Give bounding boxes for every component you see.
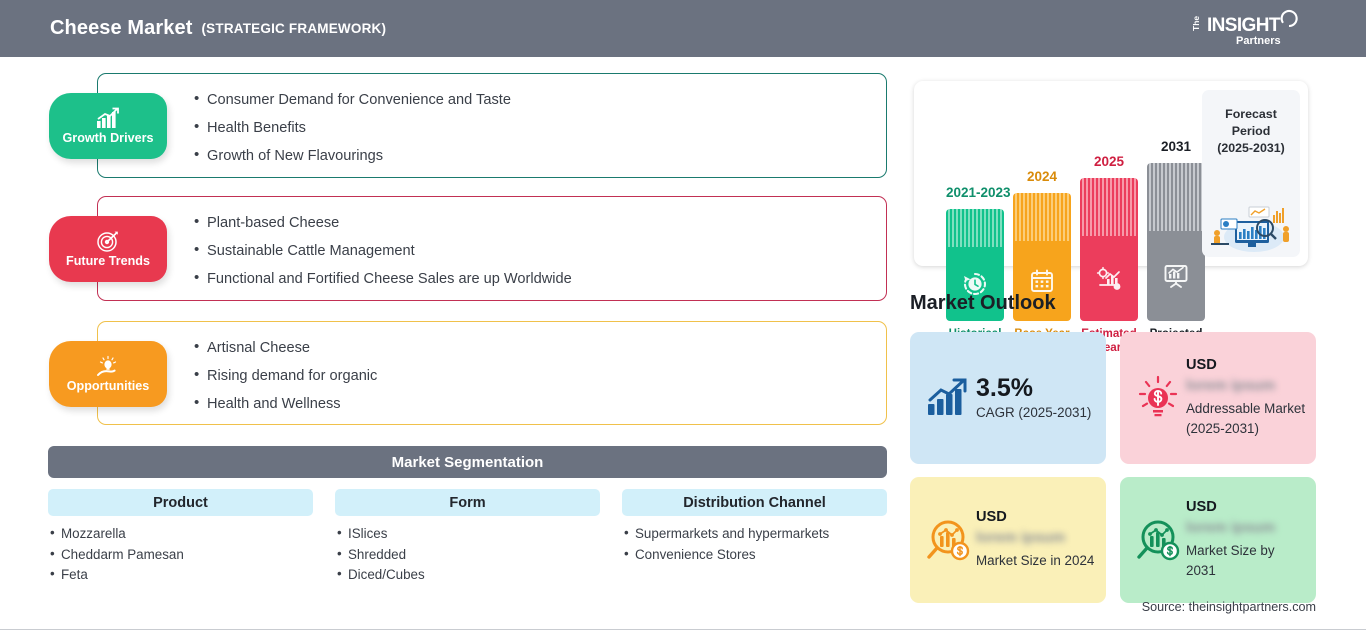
bar-chart-up-icon xyxy=(95,107,121,130)
column-items: Supermarkets and hypermarkets Convenienc… xyxy=(622,524,887,565)
card-label: Addressable Market (2025-2031) xyxy=(1186,399,1306,439)
bar-chart-arrow-icon xyxy=(925,378,971,418)
list-item: Mozzarella xyxy=(48,524,313,545)
lightbulb-hand-icon xyxy=(95,355,121,378)
opportunities-list: Artisnal Cheese Rising demand for organi… xyxy=(98,322,886,418)
cagr-label: CAGR (2025-2031) xyxy=(976,403,1096,423)
badge-label: Growth Drivers xyxy=(63,131,154,145)
timeline-bars: 2021-2023Historical Years2024Base Year20… xyxy=(928,81,1188,266)
timeline-year-label: 2025 xyxy=(1080,154,1138,169)
forecast-line: (2025-2031) xyxy=(1202,140,1300,157)
list-item: Sustainable Cattle Management xyxy=(194,237,886,265)
column-header: Form xyxy=(335,489,600,516)
card-label: Market Size by 2031 xyxy=(1186,541,1306,581)
list-item: Rising demand for organic xyxy=(194,362,886,390)
list-item: Health Benefits xyxy=(194,114,886,142)
insight-partners-logo: The INSIGHT Partners xyxy=(1191,9,1311,49)
badge-opportunities[interactable]: Opportunities xyxy=(49,341,167,407)
target-dart-icon xyxy=(95,230,121,253)
source-credit: Source: theinsightpartners.com xyxy=(1142,600,1316,614)
magnifier-chart-dollar-icon xyxy=(924,516,972,564)
currency-label: USD xyxy=(1186,357,1306,373)
timeline-bar-stripes xyxy=(1147,163,1205,231)
forecast-line: Forecast xyxy=(1202,106,1300,123)
outlook-card-addressable-market[interactable]: USD lorem ipsum Addressable Market (2025… xyxy=(1120,332,1316,464)
analytics-dashboard-illustration xyxy=(1207,197,1295,253)
list-item: Feta xyxy=(48,565,313,586)
timeline-bar-body xyxy=(1147,231,1205,321)
ocard-icon-wrap xyxy=(920,489,976,591)
page-subtitle: (STRATEGIC FRAMEWORK) xyxy=(201,21,386,36)
ocard-icon-wrap xyxy=(1130,489,1186,591)
column-header: Product xyxy=(48,489,313,516)
calendar-icon xyxy=(1029,268,1055,294)
list-item: Functional and Fortified Cheese Sales ar… xyxy=(194,265,886,293)
redacted-value: lorem ipsum xyxy=(976,527,1096,548)
forecast-period-text: Forecast Period (2025-2031) xyxy=(1202,90,1300,157)
timeline-year-label: 2021-2023 xyxy=(946,185,1004,200)
list-item: ISlices xyxy=(335,524,600,545)
list-item: Diced/Cubes xyxy=(335,565,600,586)
panel-future-trends: Plant-based Cheese Sustainable Cattle Ma… xyxy=(97,196,887,301)
ocard-icon-wrap xyxy=(1130,344,1186,452)
list-item: Cheddarm Pamesan xyxy=(48,545,313,566)
panel-growth-drivers: Consumer Demand for Convenience and Tast… xyxy=(97,73,887,178)
forecast-line: Period xyxy=(1202,123,1300,140)
bottom-divider xyxy=(0,629,1366,630)
market-segmentation-bar: Market Segmentation xyxy=(48,446,887,478)
column-items: ISlices Shredded Diced/Cubes xyxy=(335,524,600,586)
chart-gear-icon xyxy=(1096,266,1122,292)
outlook-card-cagr[interactable]: 3.5% CAGR (2025-2031) xyxy=(910,332,1106,464)
list-item: Artisnal Cheese xyxy=(194,334,886,362)
cagr-value: 3.5% xyxy=(976,374,1096,403)
segmentation-column-form: Form ISlices Shredded Diced/Cubes xyxy=(335,489,600,586)
list-item: Shredded xyxy=(335,545,600,566)
panel-opportunities: Artisnal Cheese Rising demand for organi… xyxy=(97,321,887,425)
redacted-value: lorem ipsum xyxy=(1186,375,1306,396)
list-item: Consumer Demand for Convenience and Tast… xyxy=(194,86,886,114)
list-item: Convenience Stores xyxy=(622,545,887,566)
list-item: Plant-based Cheese xyxy=(194,209,886,237)
timeline-year-label: 2031 xyxy=(1147,139,1205,154)
segmentation-column-distribution-channel: Distribution Channel Supermarkets and hy… xyxy=(622,489,887,565)
currency-label: USD xyxy=(1186,499,1306,515)
timeline-bar-stripes xyxy=(946,209,1004,247)
timeline-year-label: 2024 xyxy=(1013,169,1071,184)
ocard-icon-wrap xyxy=(920,344,976,452)
svg-text:INSIGHT: INSIGHT xyxy=(1207,15,1281,36)
timeline-bar-stripes xyxy=(1013,193,1071,241)
badge-future-trends[interactable]: Future Trends xyxy=(49,216,167,282)
column-header: Distribution Channel xyxy=(622,489,887,516)
forecast-timeline-card: 2021-2023Historical Years2024Base Year20… xyxy=(914,81,1308,266)
presentation-chart-icon xyxy=(1163,263,1189,289)
forecast-period-box: Forecast Period (2025-2031) xyxy=(1202,90,1300,257)
currency-label: USD xyxy=(976,509,1096,525)
timeline-bar-stripes xyxy=(1080,178,1138,236)
market-segmentation-label: Market Segmentation xyxy=(392,454,544,471)
infographic-root: Cheese Market (STRATEGIC FRAMEWORK) The … xyxy=(0,0,1366,635)
page-title: Cheese Market xyxy=(50,17,192,40)
badge-growth-drivers[interactable]: Growth Drivers xyxy=(49,93,167,159)
timeline-bar-body xyxy=(1080,236,1138,321)
svg-text:Partners: Partners xyxy=(1236,35,1281,47)
timeline-bar xyxy=(1147,163,1205,321)
segmentation-column-product: Product Mozzarella Cheddarm Pamesan Feta xyxy=(48,489,313,586)
list-item: Health and Wellness xyxy=(194,390,886,418)
growth-drivers-list: Consumer Demand for Convenience and Tast… xyxy=(98,74,886,170)
market-outlook-title: Market Outlook xyxy=(910,292,1056,315)
column-items: Mozzarella Cheddarm Pamesan Feta xyxy=(48,524,313,586)
outlook-card-market-size-2031[interactable]: USD lorem ipsum Market Size by 2031 xyxy=(1120,477,1316,603)
lightbulb-dollar-icon xyxy=(1136,375,1180,421)
badge-label: Future Trends xyxy=(66,254,150,268)
future-trends-list: Plant-based Cheese Sustainable Cattle Ma… xyxy=(98,197,886,293)
list-item: Supermarkets and hypermarkets xyxy=(622,524,887,545)
redacted-value: lorem ipsum xyxy=(1186,517,1306,538)
svg-text:The: The xyxy=(1191,16,1201,31)
list-item: Growth of New Flavourings xyxy=(194,142,886,170)
badge-label: Opportunities xyxy=(67,379,150,393)
card-label: Market Size in 2024 xyxy=(976,551,1096,571)
outlook-card-market-size-2024[interactable]: USD lorem ipsum Market Size in 2024 xyxy=(910,477,1106,603)
magnifier-chart-dollar-icon xyxy=(1134,516,1182,564)
timeline-bar xyxy=(1080,178,1138,321)
page-header: Cheese Market (STRATEGIC FRAMEWORK) The … xyxy=(0,0,1366,57)
